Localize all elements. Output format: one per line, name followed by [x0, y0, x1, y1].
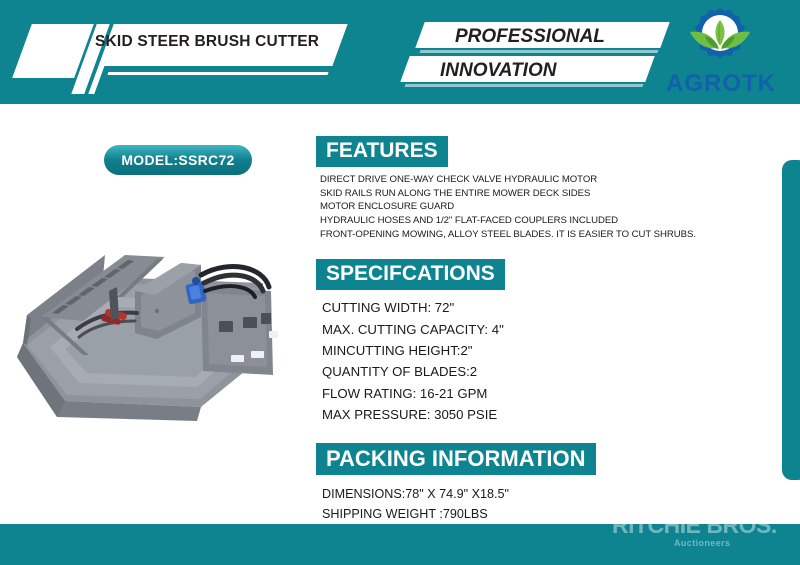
features-section: FEATURES DIRECT DRIVE ONE-WAY CHECK VALV… — [316, 136, 736, 241]
specifications-section: SPECIFCATIONS CUTTING WIDTH: 72" MAX. CU… — [316, 259, 736, 425]
spec-item: MAX PRESSURE: 3050 PSIE — [322, 404, 736, 425]
packing-section: PACKING INFORMATION DIMENSIONS:78" X 74.… — [316, 443, 736, 525]
features-list: DIRECT DRIVE ONE-WAY CHECK VALVE HYDRAUL… — [320, 173, 736, 241]
feature-item: HYDRAULIC HOSES AND 1/2" FLAT-FACED COUP… — [320, 214, 736, 228]
header-banner: SKID STEER BRUSH CUTTER PROFESSIONAL INN… — [0, 0, 800, 104]
feature-item: SKID RAILS RUN ALONG THE ENTIRE MOWER DE… — [320, 187, 736, 201]
spec-item: CUTTING WIDTH: 72" — [322, 297, 736, 318]
features-heading: FEATURES — [316, 136, 448, 167]
packing-list: DIMENSIONS:78" X 74.9" X18.5" SHIPPING W… — [322, 484, 736, 525]
spec-column: FEATURES DIRECT DRIVE ONE-WAY CHECK VALV… — [316, 136, 736, 525]
tagline-innovation: INNOVATION — [440, 60, 556, 82]
packing-heading: PACKING INFORMATION — [316, 443, 596, 475]
product-spec-sheet: SKID STEER BRUSH CUTTER PROFESSIONAL INN… — [0, 0, 800, 565]
brand-logo: AGROTK — [648, 6, 794, 102]
spec-item: QUANTITY OF BLADES:2 — [322, 361, 736, 382]
tagline-banner-professional-edge — [419, 50, 658, 53]
spec-item: MINCUTTING HEIGHT:2" — [322, 340, 736, 361]
feature-item: FRONT-OPENING MOWING, ALLOY STEEL BLADES… — [320, 228, 736, 242]
specifications-list: CUTTING WIDTH: 72" MAX. CUTTING CAPACITY… — [322, 297, 736, 425]
spec-item: FLOW RATING: 16-21 GPM — [322, 383, 736, 404]
packing-item: SHIPPING WEIGHT :790LBS — [322, 504, 736, 524]
feature-item: MOTOR ENCLOSURE GUARD — [320, 200, 736, 214]
tagline-banner-innovation-edge — [404, 84, 643, 87]
footer-bar — [0, 524, 800, 565]
gear-leaf-icon — [674, 6, 766, 72]
spec-item: MAX. CUTTING CAPACITY: 4" — [322, 319, 736, 340]
product-image-brush-cutter — [5, 225, 305, 435]
page-title: SKID STEER BRUSH CUTTER — [95, 33, 345, 51]
right-edge-accent-tab — [782, 160, 800, 480]
packing-item: DIMENSIONS:78" X 74.9" X18.5" — [322, 484, 736, 504]
product-title-underline — [107, 72, 328, 75]
model-badge-label: MODEL:SSRC72 — [121, 152, 234, 168]
brand-name: AGROTK — [648, 70, 794, 98]
tagline-professional: PROFESSIONAL — [455, 26, 605, 48]
model-badge: MODEL:SSRC72 — [104, 145, 252, 175]
feature-item: DIRECT DRIVE ONE-WAY CHECK VALVE HYDRAUL… — [320, 173, 736, 187]
specifications-heading: SPECIFCATIONS — [316, 259, 505, 290]
